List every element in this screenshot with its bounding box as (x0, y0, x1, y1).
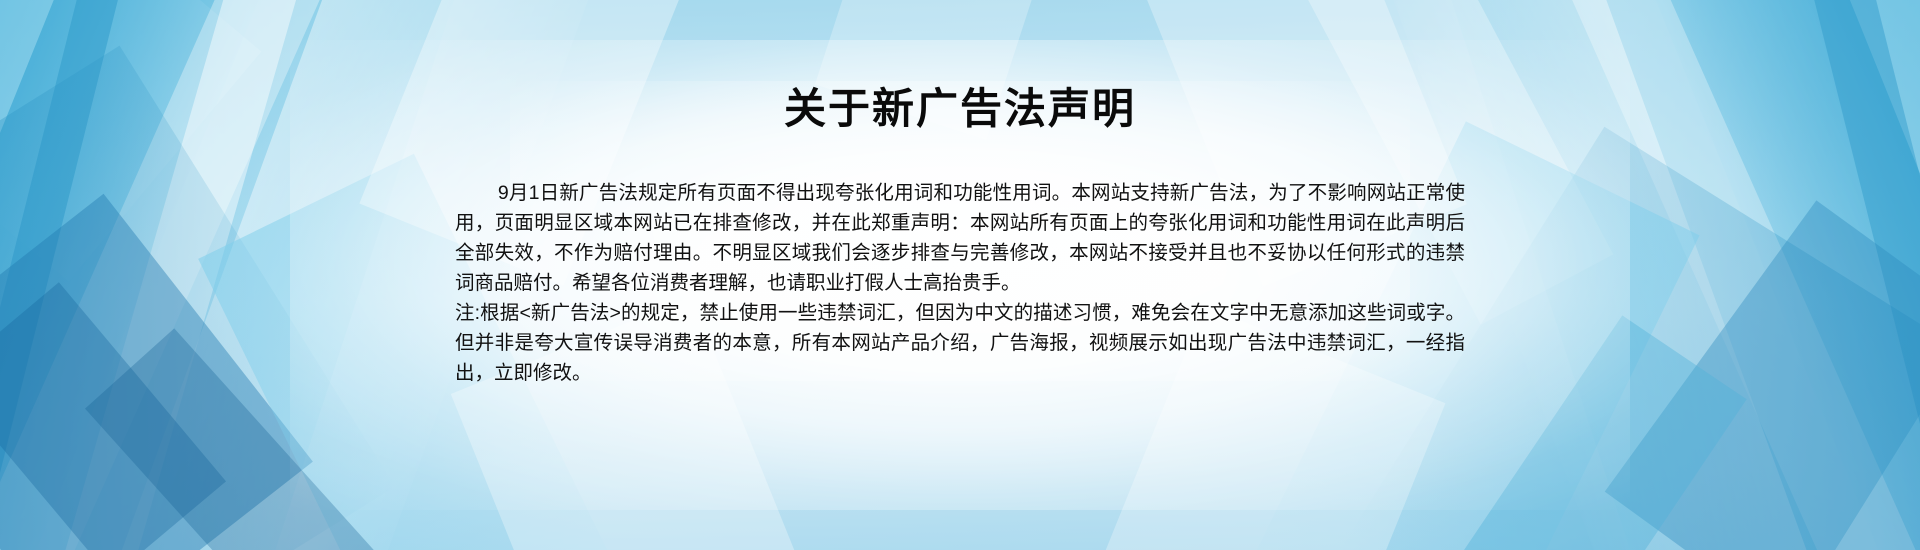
page-title: 关于新广告法声明 (0, 84, 1920, 134)
advertising-law-statement-banner: 关于新广告法声明 9月1日新广告法规定所有页面不得出现夸张化用词和功能性用词。本… (0, 0, 1920, 550)
statement-paragraph-2: 注:根据<新广告法>的规定，禁止使用一些违禁词汇，但因为中文的描述习惯，难免会在… (455, 298, 1465, 388)
banner-content: 关于新广告法声明 9月1日新广告法规定所有页面不得出现夸张化用词和功能性用词。本… (0, 0, 1920, 550)
statement-paragraph-1: 9月1日新广告法规定所有页面不得出现夸张化用词和功能性用词。本网站支持新广告法，… (455, 178, 1465, 298)
statement-body: 9月1日新广告法规定所有页面不得出现夸张化用词和功能性用词。本网站支持新广告法，… (455, 178, 1465, 388)
